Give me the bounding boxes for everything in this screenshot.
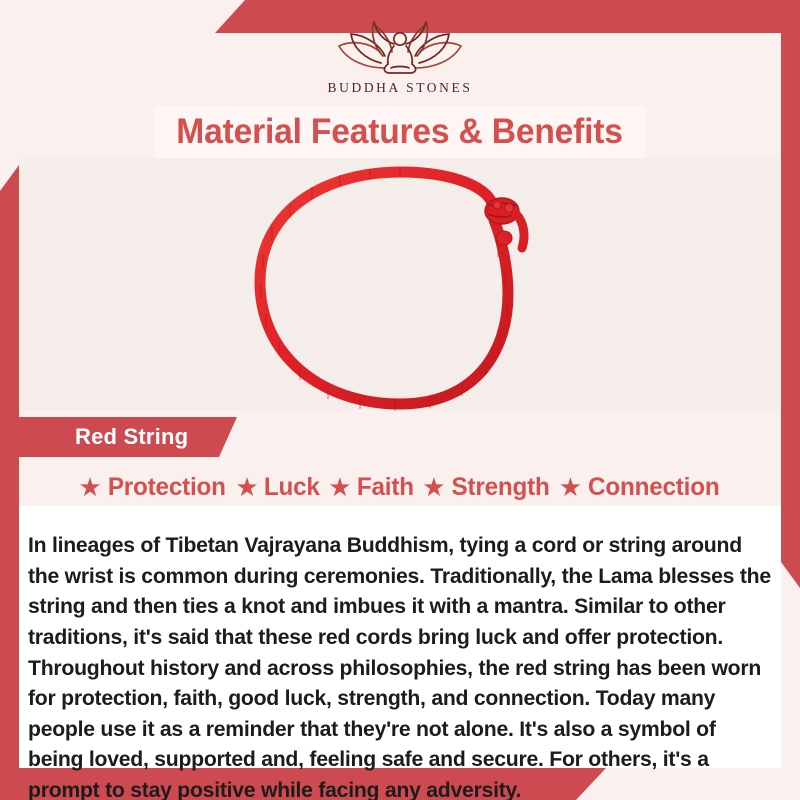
benefit-item-luck: ★ Luck (235, 473, 320, 502)
hero-inner (19, 158, 781, 410)
star-icon: ★ (328, 474, 351, 500)
benefit-label: Strength (451, 473, 549, 502)
product-label: Red String (19, 424, 188, 450)
brand-logo: BUDDHA STONES (0, 16, 800, 96)
decor-left-strip (0, 165, 19, 800)
hero-section (19, 158, 781, 410)
star-icon: ★ (235, 474, 258, 500)
benefit-label: Faith (356, 473, 413, 502)
star-icon: ★ (559, 474, 582, 500)
red-string-bracelet-image (250, 164, 550, 417)
lotus-meditation-icon (0, 16, 800, 78)
page-title: Material Features & Benefits (177, 112, 624, 152)
description-text: In lineages of Tibetan Vajrayana Buddhis… (28, 531, 776, 800)
benefit-label: Connection (588, 473, 719, 502)
benefit-item-connection: ★ Connection (559, 473, 722, 502)
benefit-label: Luck (264, 473, 320, 502)
star-icon: ★ (78, 474, 101, 500)
product-label-banner: Red String (19, 417, 237, 457)
benefit-label: Protection (108, 473, 226, 502)
infographic-page: BUDDHA STONES (0, 0, 800, 800)
benefit-item-strength: ★ Strength (422, 473, 550, 502)
page-title-banner: Material Features & Benefits (155, 106, 645, 158)
benefits-row: ★ Protection ★ Luck ★ Faith ★ Strength ★… (19, 468, 781, 506)
brand-wordmark: BUDDHA STONES (0, 80, 800, 96)
description-section: In lineages of Tibetan Vajrayana Buddhis… (19, 506, 781, 768)
star-icon: ★ (422, 474, 445, 500)
benefit-item-faith: ★ Faith (328, 473, 414, 502)
benefit-item-protection: ★ Protection (78, 473, 227, 502)
